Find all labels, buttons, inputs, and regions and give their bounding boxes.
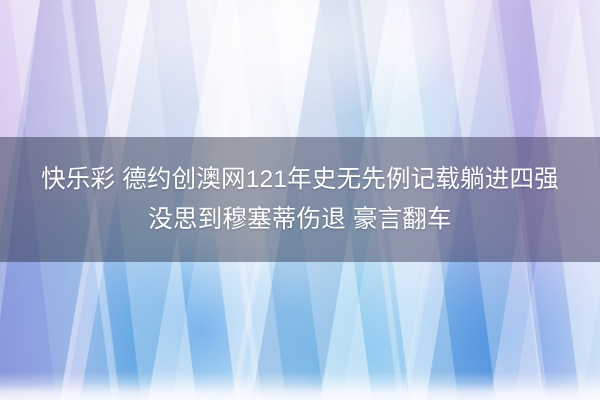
caption-line-1: 快乐彩 德约创澳网121年史无先例记载躺进四强: [41, 163, 559, 197]
banner-image: 快乐彩 德约创澳网121年史无先例记载躺进四强 没思到穆塞蒂伤退 豪言翻车: [0, 0, 600, 400]
caption-line-2: 没思到穆塞蒂伤退 豪言翻车: [148, 203, 451, 237]
background-bottom-glow: [0, 372, 600, 400]
caption-text-block: 快乐彩 德约创澳网121年史无先例记载躺进四强 没思到穆塞蒂伤退 豪言翻车: [0, 137, 600, 262]
